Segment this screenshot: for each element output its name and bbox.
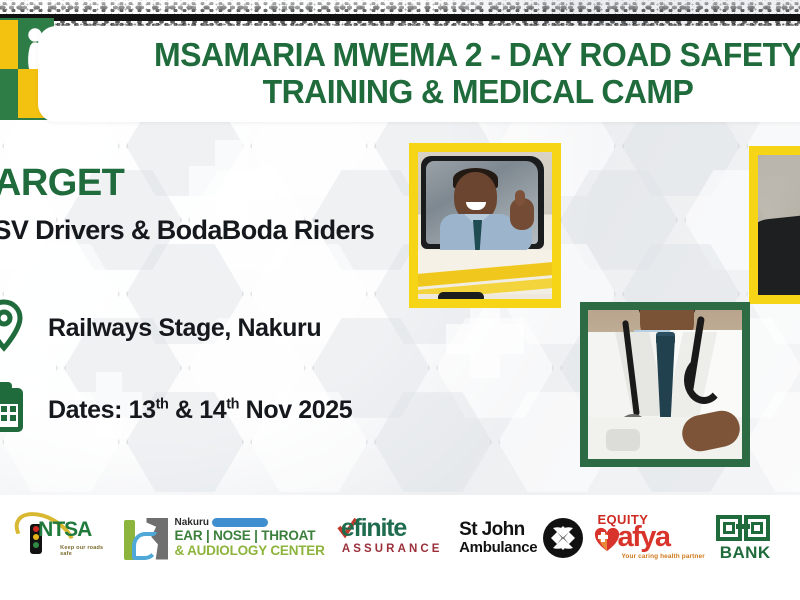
- photo-doctor: [580, 302, 750, 467]
- ent-line-2: & AUDIOLOGY CENTER: [174, 543, 324, 558]
- bank-wordmark: BANK: [720, 543, 771, 563]
- ntsa-wordmark: NTSA: [38, 518, 91, 542]
- poster-canvas: MSAMARIA MWEMA 2 - DAY ROAD SAFETY TRAIN…: [0, 0, 800, 600]
- st-john-line-1: St John: [459, 520, 537, 540]
- ntsa-tagline: Keep our roads safe: [60, 545, 116, 557]
- partner-logo-strip: NTSA Keep our roads safe Nakuru EAR | NO…: [0, 495, 800, 600]
- poster-title-line-1: MSAMARIA MWEMA 2 - DAY ROAD SAFETY: [154, 38, 800, 73]
- dates-day2: 14: [199, 396, 226, 424]
- st-john-line-2: Ambulance: [459, 540, 537, 556]
- ent-city-label: Nakuru: [174, 517, 208, 528]
- dates-joiner: &: [168, 396, 199, 424]
- location-pin-icon: [0, 298, 30, 358]
- afya-wordmark: afya: [617, 521, 669, 554]
- partner-logo-st-john-ambulance: St John Ambulance: [459, 512, 587, 564]
- target-subheading: PSV Drivers & BodaBoda Riders: [0, 215, 374, 246]
- dates-day2-suffix: th: [226, 396, 239, 412]
- ent-line-1: EAR | NOSE | THROAT: [174, 528, 324, 543]
- dates-day1: 13: [129, 396, 156, 424]
- partner-logo-equity-afya: EQUITY afya Your caring health partner: [591, 511, 709, 565]
- definite-wordmark: efinite: [341, 514, 406, 543]
- dates-day1-suffix: th: [156, 396, 169, 412]
- poster-title-line-2: TRAINING & MEDICAL CAMP: [263, 75, 694, 110]
- title-card: MSAMARIA MWEMA 2 - DAY ROAD SAFETY TRAIN…: [38, 26, 800, 122]
- dates-row: Dates: 13th & 14th Nov 2025: [0, 380, 352, 440]
- dates-label: Dates:: [48, 396, 129, 424]
- dates-text: Dates: 13th & 14th Nov 2025: [48, 396, 352, 425]
- photo-bodaboda-rider: [749, 146, 800, 304]
- ent-pill-decoration: [212, 518, 268, 527]
- maltese-cross-icon: [543, 518, 583, 558]
- partner-logo-definite-assurance: efinite ASSURANCE: [337, 512, 455, 564]
- photo-psv-driver: [409, 143, 561, 308]
- target-heading: TARGET: [0, 162, 124, 205]
- venue-text: Railways Stage, Nakuru: [48, 314, 321, 343]
- definite-tagline: ASSURANCE: [342, 543, 443, 555]
- ent-mark-icon: [120, 514, 172, 562]
- dates-month-year: Nov 2025: [239, 396, 352, 424]
- equity-afya-tagline: Your caring health partner: [621, 553, 704, 560]
- partner-logo-co-op-bank: BANK: [714, 512, 792, 564]
- calendar-icon: [0, 380, 30, 440]
- partner-logo-ntsa: NTSA Keep our roads safe: [8, 512, 116, 564]
- venue-row: Railways Stage, Nakuru: [0, 298, 321, 358]
- partner-logo-ent-audiology: Nakuru EAR | NOSE | THROAT & AUDIOLOGY C…: [120, 511, 332, 565]
